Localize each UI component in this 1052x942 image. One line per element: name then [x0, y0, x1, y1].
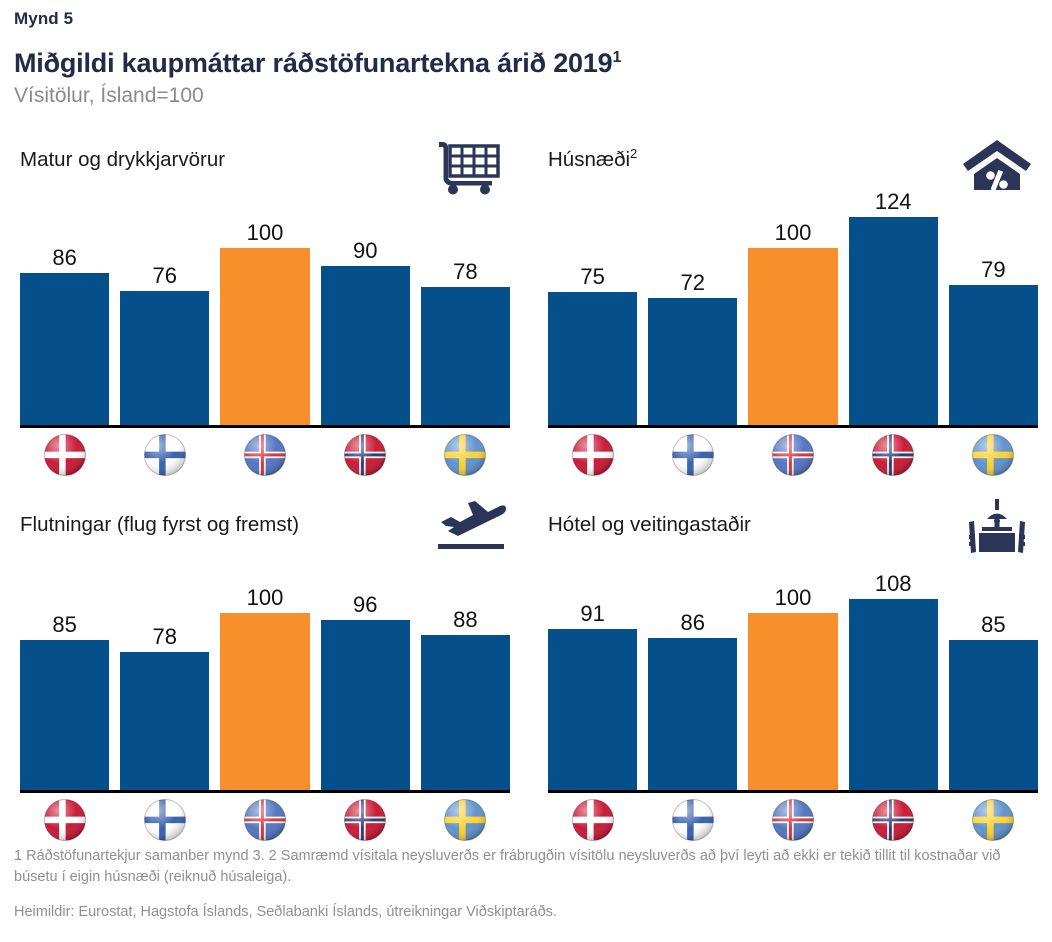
flag-norway-icon	[872, 434, 914, 476]
bar-value-label: 76	[153, 264, 177, 288]
bar[interactable]	[321, 620, 410, 790]
bar-value-label: 100	[775, 586, 812, 610]
country-axis-food	[20, 431, 510, 479]
bar[interactable]	[648, 638, 737, 790]
panel-title-hotels: Hótel og veitingastaðir	[548, 513, 751, 537]
bar-slot: 85	[949, 555, 1038, 790]
bar-slot: 85	[20, 555, 109, 790]
country-flag-svíþjóð	[421, 434, 510, 476]
bar-slot: 86	[20, 190, 109, 425]
bar[interactable]	[748, 248, 837, 425]
country-flag-finnland	[120, 799, 209, 841]
plot-area-transport: 85 78 100 96 88	[20, 555, 510, 793]
bar-slot: 100	[220, 190, 309, 425]
plot-area-hotels: 91 86 100 108 85	[548, 555, 1038, 793]
panel-title-housing: Húsnæði2	[548, 148, 637, 172]
plot-area-food: 86 76 100 90 78	[20, 190, 510, 428]
bar-group-hotels: 91 86 100 108 85	[548, 555, 1038, 790]
country-flag-danmörk	[548, 799, 637, 841]
panel-title-text: Hótel og veitingastaðir	[548, 513, 751, 536]
bar-value-label: 100	[247, 221, 284, 245]
bar[interactable]	[421, 287, 510, 425]
bar-value-label: 78	[153, 625, 177, 649]
bar-value-label: 96	[353, 593, 377, 617]
flag-finland-icon	[144, 799, 186, 841]
country-flag-noregur	[849, 799, 938, 841]
bar-group-food: 86 76 100 90 78	[20, 190, 510, 425]
flag-sweden-icon	[972, 799, 1014, 841]
panel-transport: Flutningar (flug fyrst og fremst) 85 78	[2, 495, 524, 848]
bar-value-label: 78	[453, 260, 477, 284]
bar[interactable]	[849, 599, 938, 790]
restaurant-table-icon	[960, 497, 1034, 559]
chart-footer: 1 Ráðstöfunartekjur samanber mynd 3. 2 S…	[14, 846, 1038, 923]
panel-title-text: Flutningar (flug fyrst og fremst)	[20, 513, 299, 536]
country-flag-ísland	[748, 799, 837, 841]
bar[interactable]	[648, 298, 737, 425]
bar[interactable]	[548, 629, 637, 790]
flag-denmark-icon	[572, 434, 614, 476]
bar-slot: 100	[748, 555, 837, 790]
flag-iceland-icon	[772, 799, 814, 841]
country-flag-svíþjóð	[949, 434, 1038, 476]
bar-group-housing: 75 72 100 124 79	[548, 190, 1038, 425]
bar-slot: 78	[120, 555, 209, 790]
flag-denmark-icon	[44, 799, 86, 841]
bar-value-label: 85	[981, 613, 1005, 637]
bar-value-label: 86	[681, 611, 705, 635]
country-flag-noregur	[849, 434, 938, 476]
axis-baseline	[20, 425, 510, 428]
plot-area-housing: 75 72 100 124 79	[548, 190, 1038, 428]
bar-group-transport: 85 78 100 96 88	[20, 555, 510, 790]
panel-hotels-restaurants: Hótel og veitingastaðir	[530, 495, 1052, 848]
shopping-cart-icon	[432, 134, 506, 196]
bar-slot: 91	[548, 555, 637, 790]
bar-slot: 100	[748, 190, 837, 425]
flag-denmark-icon	[44, 434, 86, 476]
panel-title-transport: Flutningar (flug fyrst og fremst)	[20, 513, 299, 537]
bar-slot: 75	[548, 190, 637, 425]
bar-slot: 100	[220, 555, 309, 790]
bar[interactable]	[120, 291, 209, 425]
house-percent-icon	[960, 134, 1034, 196]
panel-title-food: Matur og drykkjarvörur	[20, 148, 225, 172]
bar[interactable]	[949, 640, 1038, 790]
flag-norway-icon	[872, 799, 914, 841]
bar-value-label: 75	[580, 265, 604, 289]
bar-value-label: 100	[775, 221, 812, 245]
bar-slot: 78	[421, 190, 510, 425]
flag-norway-icon	[344, 799, 386, 841]
axis-baseline	[548, 425, 1038, 428]
axis-baseline	[20, 790, 510, 793]
bar-value-label: 124	[875, 190, 912, 214]
flag-sweden-icon	[444, 799, 486, 841]
country-flag-danmörk	[20, 799, 109, 841]
flag-finland-icon	[672, 799, 714, 841]
bar-slot: 90	[321, 190, 410, 425]
flag-norway-icon	[344, 434, 386, 476]
panel-title-footnote-marker: 2	[630, 146, 637, 161]
bar[interactable]	[949, 285, 1038, 425]
panel-grid: Matur og drykkjarvörur 86 76	[0, 130, 1052, 838]
axis-baseline	[548, 790, 1038, 793]
flag-sweden-icon	[444, 434, 486, 476]
bar[interactable]	[20, 273, 109, 425]
bar-value-label: 100	[247, 586, 284, 610]
bar-slot: 86	[648, 555, 737, 790]
bar[interactable]	[220, 613, 309, 790]
bar-value-label: 90	[353, 239, 377, 263]
bar-slot: 76	[120, 190, 209, 425]
bar-slot: 72	[648, 190, 737, 425]
country-flag-danmörk	[20, 434, 109, 476]
bar-slot: 108	[849, 555, 938, 790]
bar[interactable]	[748, 613, 837, 790]
panel-housing: Húsnæði2 75	[530, 130, 1052, 483]
country-flag-finnland	[120, 434, 209, 476]
bar[interactable]	[548, 292, 637, 425]
bar-value-label: 72	[681, 271, 705, 295]
bar[interactable]	[421, 635, 510, 790]
page-subtitle: Vísitölur, Ísland=100	[14, 82, 1038, 109]
country-flag-ísland	[220, 434, 309, 476]
country-flag-noregur	[321, 799, 410, 841]
bar-slot: 79	[949, 190, 1038, 425]
country-flag-svíþjóð	[421, 799, 510, 841]
bar-value-label: 86	[52, 246, 76, 270]
bar-value-label: 108	[875, 572, 912, 596]
bar-slot: 124	[849, 190, 938, 425]
bar[interactable]	[849, 217, 938, 425]
country-axis-hotels	[548, 796, 1038, 844]
flag-iceland-icon	[772, 434, 814, 476]
page-title-footnote-marker: 1	[612, 49, 621, 66]
bar-value-label: 79	[981, 258, 1005, 282]
country-axis-transport	[20, 796, 510, 844]
footnotes-text: 1 Ráðstöfunartekjur samanber mynd 3. 2 S…	[14, 846, 1038, 888]
figure-label: Mynd 5	[14, 8, 1038, 30]
country-flag-ísland	[748, 434, 837, 476]
country-flag-finnland	[648, 434, 737, 476]
bar[interactable]	[120, 652, 209, 790]
bar[interactable]	[20, 640, 109, 790]
flag-iceland-icon	[244, 799, 286, 841]
flag-iceland-icon	[244, 434, 286, 476]
bar-value-label: 88	[453, 608, 477, 632]
flag-finland-icon	[144, 434, 186, 476]
page-title: Miðgildi kaupmáttar ráðstöfunartekna ári…	[14, 47, 1038, 80]
bar-value-label: 91	[580, 602, 604, 626]
country-axis-housing	[548, 431, 1038, 479]
page-title-text: Miðgildi kaupmáttar ráðstöfunartekna ári…	[14, 48, 612, 78]
country-flag-noregur	[321, 434, 410, 476]
bar-slot: 88	[421, 555, 510, 790]
country-flag-danmörk	[548, 434, 637, 476]
panel-food-and-drink: Matur og drykkjarvörur 86 76	[2, 130, 524, 483]
source-text: Heimildir: Eurostat, Hagstofa Íslands, S…	[14, 902, 1038, 923]
flag-finland-icon	[672, 434, 714, 476]
bar-value-label: 85	[52, 613, 76, 637]
flag-sweden-icon	[972, 434, 1014, 476]
country-flag-svíþjóð	[949, 799, 1038, 841]
bar[interactable]	[220, 248, 309, 425]
panel-title-text: Húsnæði	[548, 148, 630, 171]
country-flag-finnland	[648, 799, 737, 841]
panel-title-text: Matur og drykkjarvörur	[20, 148, 225, 171]
country-flag-ísland	[220, 799, 309, 841]
bar-slot: 96	[321, 555, 410, 790]
flag-denmark-icon	[572, 799, 614, 841]
chart-header: Mynd 5 Miðgildi kaupmáttar ráðstöfunarte…	[0, 0, 1052, 109]
airplane-icon	[432, 497, 506, 559]
bar[interactable]	[321, 266, 410, 425]
